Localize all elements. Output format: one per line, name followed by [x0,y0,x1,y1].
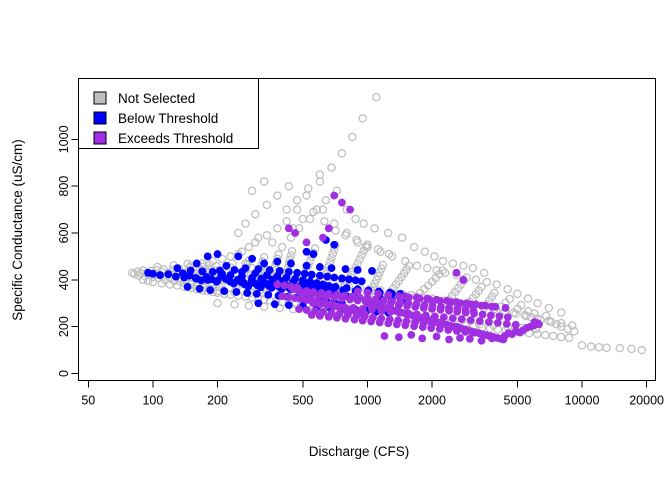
data-point [204,276,212,284]
data-point [453,269,461,277]
data-point [514,290,521,297]
data-point [234,253,242,261]
data-point [421,248,428,255]
x-tick-label: 200 [207,394,228,408]
data-point [149,270,157,278]
data-point [318,289,326,297]
data-point [368,267,376,275]
data-point [164,270,172,278]
data-point [156,271,164,279]
data-point [325,290,333,298]
data-point [328,264,336,272]
data-point [373,94,380,101]
data-point [350,304,358,312]
data-point [360,220,367,227]
data-point [214,300,221,307]
data-point [245,243,252,250]
data-point [303,248,311,256]
data-point [431,312,439,320]
y-tick-label: 200 [57,316,71,337]
data-point [385,229,392,236]
data-point [287,260,295,268]
data-point [377,315,385,323]
data-point [395,333,403,341]
data-point [354,266,362,274]
data-point [504,286,511,293]
data-point [384,291,392,299]
data-point [193,260,201,268]
x-tick-label: 2000 [418,394,446,408]
y-tick-label: 400 [57,269,71,290]
data-point [269,239,276,246]
data-point [206,286,214,294]
data-point [479,311,487,319]
data-point [481,269,488,276]
data-point [469,265,476,272]
legend-swatch-below-threshold [94,112,106,124]
data-point [336,310,344,318]
data-point [214,277,222,285]
data-point [184,283,192,291]
data-point [328,164,335,171]
data-point [293,283,301,291]
y-tick-label: 1000 [57,125,71,153]
data-point [411,243,418,250]
data-point [472,276,479,283]
data-point [266,266,274,274]
data-point [439,258,446,265]
data-point [285,224,293,232]
data-point [488,303,496,311]
data-point [436,297,444,305]
data-point [338,275,346,283]
data-point [283,218,290,225]
data-point [333,291,341,299]
data-point [504,313,512,321]
data-point [294,197,301,204]
x-axis-title: Discharge (CFS) [309,444,410,459]
data-point [263,201,270,208]
data-point [545,304,552,311]
data-point [420,319,428,327]
data-point [149,279,156,286]
data-point [488,334,496,342]
data-point [503,320,511,328]
data-point [458,315,466,323]
data-point [180,274,188,282]
data-point [342,265,350,273]
y-axis-title: Specific Conductance (uS/cm) [10,139,25,321]
data-point [478,337,486,345]
data-point [356,256,363,263]
data-point [227,278,235,286]
data-point [285,268,293,276]
data-point [222,262,230,270]
data-point [405,293,413,301]
data-point [285,183,292,190]
data-point [308,271,316,279]
data-point [264,281,272,289]
data-point [295,305,303,313]
legend-swatch-not-selected [94,92,106,104]
data-point [461,306,469,314]
data-point [466,335,474,343]
data-point [353,236,360,243]
data-point [301,270,309,278]
data-point [377,307,385,315]
data-point [330,192,338,200]
data-point [321,218,328,225]
data-point [316,171,323,178]
data-point [242,264,250,272]
data-point [274,192,281,199]
x-axis-tick-labels: 501002005001000200050001000020000 [81,394,664,408]
data-point [220,287,228,295]
data-point [457,299,465,307]
data-point [293,269,301,277]
data-point [254,265,262,273]
data-point [196,285,204,293]
data-point [242,220,249,227]
data-point [305,185,312,192]
data-point [426,296,434,304]
data-point [494,319,502,327]
data-point [411,318,419,326]
y-tick-label: 600 [57,223,71,244]
data-point [483,279,490,286]
data-point [395,292,403,300]
data-point [323,273,331,281]
data-point [303,306,311,314]
data-point [369,314,377,322]
data-point [303,192,310,199]
data-point [310,288,318,296]
data-point [374,290,382,298]
data-point [193,275,201,283]
data-point [371,225,378,232]
data-point [235,229,242,236]
x-tick-label: 50 [81,394,95,408]
data-point [243,289,251,297]
data-point [352,215,359,222]
data-point [445,336,453,344]
data-point [328,309,336,317]
data-point [456,334,464,342]
data-point [603,344,610,351]
data-point [310,250,318,258]
data-point [319,234,327,242]
y-axis-ticks [72,139,79,373]
data-point [263,232,270,239]
data-point [428,320,436,328]
data-point [550,332,557,339]
data-point [487,312,495,320]
data-point [283,206,290,213]
legend-label-exceeds-threshold: Exceeds Threshold [118,131,233,146]
y-tick-label: 0 [57,370,71,377]
data-point [340,292,348,300]
x-tick-label: 10000 [565,394,600,408]
data-point [402,258,409,265]
data-point [595,344,602,351]
data-point [273,258,281,266]
data-point [204,253,212,261]
y-tick-label: 800 [57,176,71,197]
data-point [218,270,226,278]
data-point [396,309,404,317]
data-point [278,243,285,250]
data-point [445,322,453,330]
data-point [306,215,313,222]
data-point [494,326,501,333]
data-point [311,307,319,315]
data-point [387,308,395,316]
data-point [565,334,572,341]
data-point [345,275,353,283]
data-point [394,316,402,324]
data-point [303,287,311,295]
data-point [437,321,445,329]
data-point [271,300,279,308]
data-point [323,301,331,309]
data-point [332,302,340,310]
data-point [294,206,301,213]
data-point [578,342,585,349]
data-point [288,248,295,255]
data-point [478,302,486,310]
data-point [460,262,467,269]
data-point [403,317,411,325]
legend-label-not-selected: Not Selected [118,91,195,106]
data-point [340,303,348,311]
series-exceeds-threshold [273,192,542,345]
legend-swatch-exceeds-threshold [94,132,106,144]
data-point [454,323,462,331]
data-point [404,310,412,318]
x-tick-label: 100 [142,394,163,408]
x-tick-label: 5000 [504,394,532,408]
data-point [338,150,345,157]
data-point [433,333,441,341]
data-point [358,251,365,258]
data-point [257,275,265,283]
data-point [542,331,549,338]
data-point [368,306,376,314]
data-point [322,197,329,204]
data-point [233,288,241,296]
data-point [209,268,217,276]
data-point [330,274,338,282]
data-point [346,206,354,214]
data-point [260,260,268,268]
data-point [231,301,238,308]
data-point [361,313,369,321]
data-point [349,133,356,140]
data-point [424,265,431,272]
x-tick-label: 500 [292,394,313,408]
data-point [449,260,456,267]
data-point [587,343,594,350]
data-point [276,267,284,275]
data-point [291,229,299,237]
data-point [440,313,448,321]
y-axis-tick-labels: 02004006008001000 [57,125,71,377]
data-point [316,263,324,271]
data-point [534,300,541,307]
data-point [278,292,286,300]
data-point [359,305,367,313]
data-point [285,301,293,309]
data-point [416,295,424,303]
data-point [303,262,311,270]
data-point [407,331,415,339]
data-point [499,336,507,344]
data-point [447,298,455,306]
data-point [449,314,457,322]
data-point [558,333,565,340]
data-point [274,225,281,232]
data-point [493,281,500,288]
data-point [381,332,389,340]
data-point [358,277,366,285]
data-point [461,328,469,336]
data-point [524,295,531,302]
x-axis-ticks [88,381,646,388]
data-point [187,267,195,275]
data-point [558,309,565,316]
x-tick-label: 1000 [354,394,382,408]
data-point [261,178,268,185]
data-point [502,304,510,312]
data-point [214,250,222,258]
data-point [422,312,430,320]
scatter-plot-figure: 501002005001000200050001000020000 020040… [0,0,672,480]
x-tick-label: 20000 [629,394,664,408]
plot-canvas: 501002005001000200050001000020000 020040… [0,0,672,480]
data-point [342,232,349,239]
data-point [628,345,635,352]
data-point [359,115,366,122]
data-point [364,289,372,297]
data-point [512,321,520,329]
data-point [273,281,281,289]
data-point [325,224,333,232]
data-point [245,302,252,309]
data-point [254,299,262,307]
data-point [316,178,323,185]
data-point [386,316,394,324]
data-point [467,301,475,309]
data-point [398,234,405,241]
data-point [418,334,426,342]
data-point [330,241,338,249]
data-point [413,311,421,319]
data-point [338,199,346,207]
legend-label-below-threshold: Below Threshold [118,111,218,126]
data-point [616,345,623,352]
data-point [496,312,504,320]
data-point [413,262,420,269]
data-point [535,320,543,328]
data-point [252,211,259,218]
legend: Not SelectedBelow ThresholdExceeds Thres… [79,79,259,149]
data-point [319,308,327,316]
data-point [264,291,272,299]
data-point [638,346,645,353]
data-point [328,254,335,261]
data-point [354,288,362,296]
data-point [251,280,259,288]
data-point [332,227,339,234]
data-point [354,260,361,267]
data-point [240,279,248,287]
data-point [303,238,311,246]
data-point [460,276,468,284]
data-point [172,273,180,281]
data-point [299,215,306,222]
data-point [198,268,206,276]
data-point [280,282,288,290]
data-point [353,312,361,320]
data-point [316,272,324,280]
data-point [227,253,234,260]
data-point [316,300,324,308]
data-point [173,264,181,272]
data-point [249,187,256,194]
data-point [431,253,438,260]
data-point [253,290,261,298]
data-point [248,255,256,263]
data-point [275,251,282,258]
data-point [344,311,352,319]
